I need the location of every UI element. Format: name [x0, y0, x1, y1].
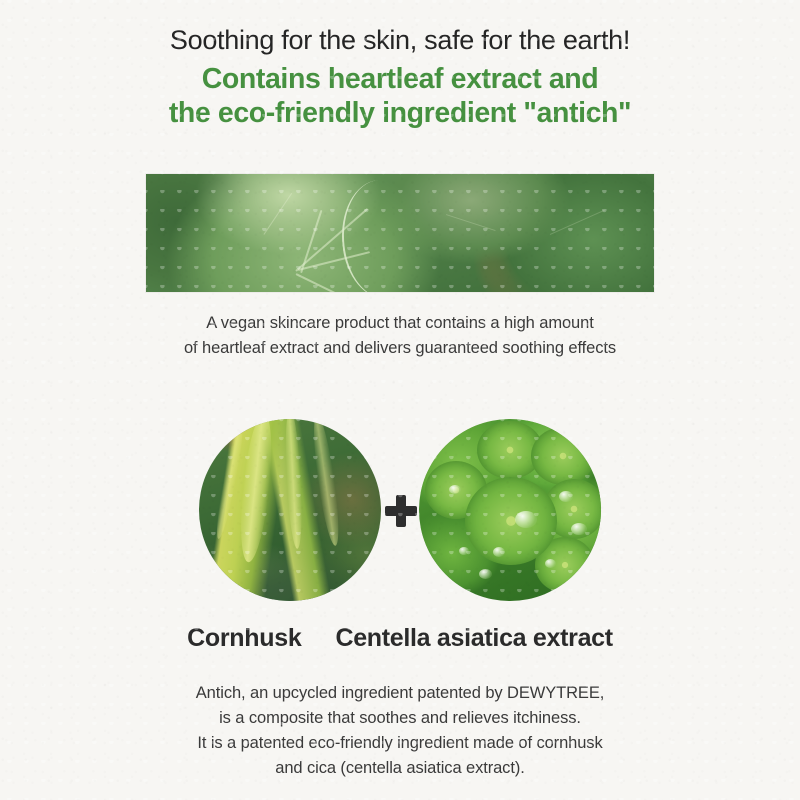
water-droplet: [449, 485, 461, 494]
water-droplet: [559, 491, 573, 502]
centella-leaf: [465, 477, 557, 565]
husk-blade: [309, 419, 343, 547]
hero-description-line-1: A vegan skincare product that contains a…: [0, 311, 800, 336]
heartleaf-banner-image: [146, 174, 654, 292]
headline-line-1: Soothing for the skin, safe for the eart…: [0, 24, 800, 57]
hero-description: A vegan skincare product that contains a…: [0, 311, 800, 361]
plus-icon: [385, 495, 417, 527]
headline-line-3: the eco-friendly ingredient "antich": [0, 96, 800, 130]
water-droplet: [459, 547, 469, 555]
water-droplet: [515, 511, 537, 528]
water-droplet: [479, 569, 492, 579]
centella-leaf: [531, 427, 595, 485]
footnote-line-3: It is a patented eco-friendly ingredient…: [0, 731, 800, 756]
footnote-line-1: Antich, an upcycled ingredient patented …: [0, 681, 800, 706]
hero-description-line-2: of heartleaf extract and delivers guaran…: [0, 336, 800, 361]
water-droplet: [545, 559, 556, 568]
footnote-line-4: and cica (centella asiatica extract).: [0, 756, 800, 781]
caption-centella: Centella asiatica extract: [335, 624, 612, 653]
cornhusk-image: [199, 419, 381, 601]
footnote-line-2: is a composite that soothes and relieves…: [0, 706, 800, 731]
footnote-block: Antich, an upcycled ingredient patented …: [0, 681, 800, 781]
product-detail-page: Soothing for the skin, safe for the eart…: [0, 0, 800, 800]
plus-icon-vertical-bar: [396, 495, 406, 527]
water-droplet: [493, 547, 505, 557]
husk-blade: [283, 419, 304, 549]
headline-line-2: Contains heartleaf extract and: [0, 62, 800, 96]
caption-cornhusk: Cornhusk: [187, 624, 301, 653]
ingredient-captions: Cornhusk Centella asiatica extract: [0, 624, 800, 653]
centella-asiatica-image: [419, 419, 601, 601]
centella-photo: [419, 419, 601, 601]
cornhusk-photo: [199, 419, 381, 601]
headline-block: Soothing for the skin, safe for the eart…: [0, 24, 800, 130]
water-droplet: [571, 523, 587, 535]
